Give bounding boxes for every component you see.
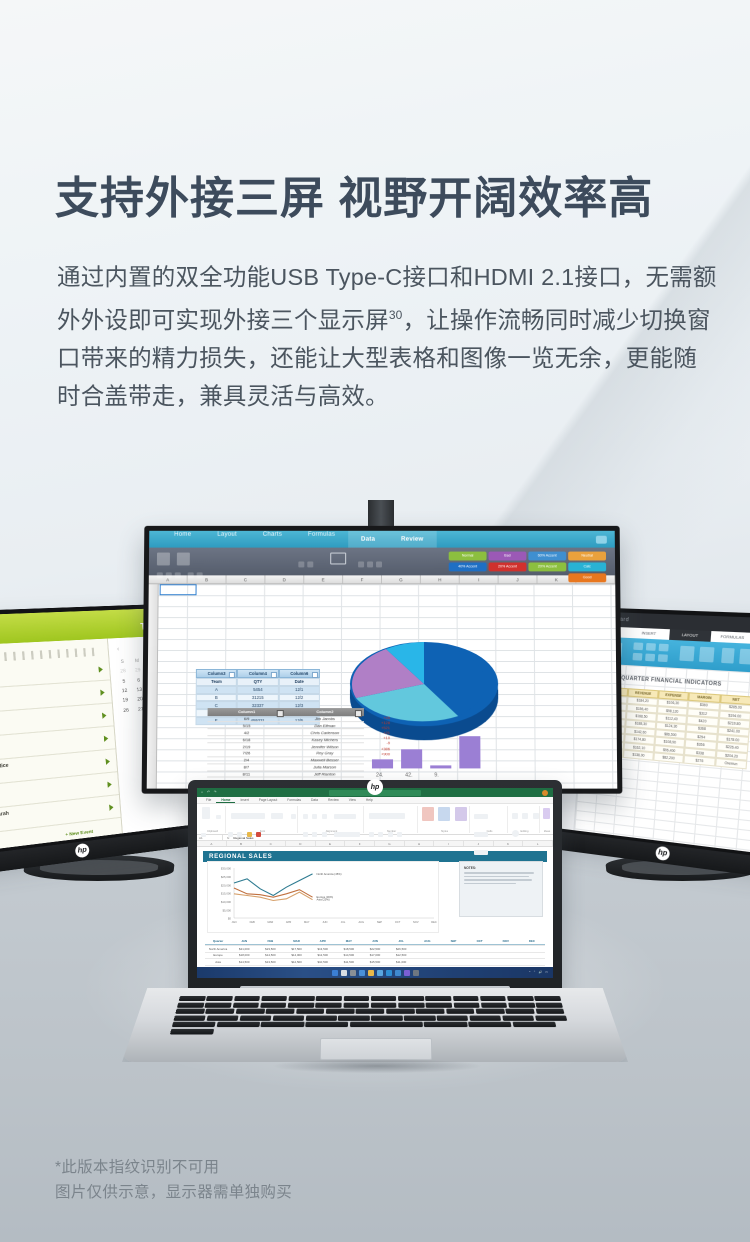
key[interactable] bbox=[272, 1015, 304, 1020]
key[interactable] bbox=[260, 1002, 287, 1007]
widgets-icon[interactable] bbox=[359, 970, 365, 976]
notes-heading: NOTES: bbox=[464, 866, 538, 870]
cell-0-5: $18,500 bbox=[336, 946, 362, 952]
spreadsheet-tab-5[interactable]: Review bbox=[388, 531, 436, 548]
key[interactable] bbox=[508, 1002, 535, 1007]
key[interactable] bbox=[398, 996, 424, 1001]
cell-0-11 bbox=[493, 946, 519, 952]
paste-icon bbox=[202, 807, 210, 819]
cell-name-3: Kasey Michers bbox=[286, 736, 364, 742]
excel-col-H[interactable]: H bbox=[405, 841, 435, 846]
group-label-editing: Editing bbox=[510, 830, 539, 833]
data-col-8: AUG bbox=[414, 938, 440, 945]
avatar[interactable] bbox=[542, 790, 548, 796]
key[interactable] bbox=[371, 996, 397, 1001]
cell-0-1: 5454 bbox=[237, 686, 278, 694]
cell-2-11 bbox=[493, 959, 519, 965]
cell-0-4: $13,500 bbox=[310, 946, 336, 952]
key[interactable] bbox=[170, 1029, 214, 1034]
table-a-subcol-2: Date bbox=[279, 678, 320, 686]
align-bottom-icon bbox=[322, 814, 327, 819]
column-header-D[interactable]: D bbox=[265, 575, 304, 583]
key[interactable] bbox=[216, 1022, 260, 1027]
taskview-icon[interactable] bbox=[350, 970, 356, 976]
cell-date-7: 8/7 bbox=[207, 764, 285, 770]
spreadsheet-tab-3[interactable]: Formulas bbox=[295, 531, 348, 548]
key[interactable] bbox=[535, 1015, 567, 1020]
mail-icon[interactable] bbox=[395, 970, 401, 976]
bold-icon[interactable] bbox=[633, 642, 643, 650]
bar-label-1: 42. bbox=[405, 772, 413, 778]
x-tick-FEB: FEB bbox=[250, 920, 255, 924]
data-col-1: JAN bbox=[231, 938, 257, 945]
ribbon-group-number[interactable] bbox=[358, 555, 385, 573]
wrap-icon bbox=[307, 561, 313, 567]
key[interactable] bbox=[481, 1002, 508, 1007]
cell-1-1: 31215 bbox=[237, 694, 278, 702]
style-swatch-1[interactable]: Bad bbox=[489, 552, 527, 561]
style-swatch-8[interactable]: Good bbox=[568, 573, 606, 582]
key[interactable] bbox=[513, 1022, 557, 1027]
x-tick-APR: APR bbox=[286, 920, 291, 924]
align-left-icon[interactable] bbox=[632, 653, 642, 661]
cell-0-3: $17,500 bbox=[283, 946, 309, 952]
settings-icon[interactable] bbox=[413, 970, 419, 976]
cell-1-3: $14,000 bbox=[283, 953, 309, 959]
bar-1 bbox=[401, 749, 422, 768]
cell-name-8: Jeff Rianton bbox=[286, 771, 364, 777]
excel-notes-panel: NOTES: bbox=[459, 861, 543, 917]
y-tick-3: $15,000 bbox=[221, 892, 232, 896]
cell-styles-icon bbox=[455, 807, 467, 821]
column-header-F[interactable]: F bbox=[343, 575, 382, 583]
agenda-title: Team Catchup bbox=[0, 685, 96, 702]
teams-icon[interactable] bbox=[404, 970, 410, 976]
cell-1-7: $12,500 bbox=[388, 953, 414, 959]
cell-2-12 bbox=[519, 959, 545, 965]
key[interactable] bbox=[326, 1009, 355, 1014]
cell-2-8 bbox=[414, 959, 440, 965]
center-monitor-screen: HomeLayoutChartsFormulasDataReview bbox=[147, 531, 618, 789]
x-tick-MAY: MAY bbox=[304, 920, 310, 924]
cell-0-0: A bbox=[196, 686, 237, 694]
key[interactable] bbox=[205, 1009, 234, 1014]
table-a-header[interactable]: Column3Column4Column6 bbox=[196, 669, 320, 678]
cell-0-8 bbox=[414, 946, 440, 952]
cell-1-5: $14,500 bbox=[336, 953, 362, 959]
y-tick-2: $10,000 bbox=[221, 900, 232, 904]
key[interactable] bbox=[234, 996, 261, 1001]
footnotes: *此版本指纹识别不可用 图片仅供示意，显示器需单独购买 bbox=[55, 1155, 292, 1205]
data-col-10: OCT bbox=[467, 938, 493, 945]
quick-access-icons[interactable]: ⌂ ↶ ↷ bbox=[201, 790, 218, 794]
y-tick-0: $0 bbox=[228, 917, 232, 921]
cell-name-7: Julia Marson bbox=[286, 764, 364, 770]
excel-tab-formulas[interactable]: Formulas bbox=[282, 798, 306, 802]
cell-name-2: Chris Carlenson bbox=[286, 730, 364, 736]
column-header-E[interactable]: E bbox=[304, 575, 343, 583]
spreadsheet-grid[interactable]: Column3Column4Column6 TeamQTYDateA545412… bbox=[147, 584, 618, 788]
ribbon-group-font[interactable] bbox=[157, 565, 206, 583]
spreadsheet-tabs[interactable]: HomeLayoutChartsFormulasDataReview bbox=[161, 531, 436, 548]
table-b-header[interactable]: Column1Column2 bbox=[208, 708, 364, 716]
cell-0-10 bbox=[467, 946, 493, 952]
hp-logo-icon bbox=[655, 846, 670, 861]
key[interactable] bbox=[468, 1022, 512, 1027]
align-center-icon bbox=[197, 572, 203, 578]
column-header-C[interactable]: C bbox=[227, 575, 266, 583]
table-a-subheader: TeamQTYDate bbox=[196, 678, 320, 686]
ribbon-group-alignment[interactable]: Alignment bbox=[300, 806, 364, 833]
style-swatch-0[interactable]: Normal bbox=[449, 552, 487, 561]
hp-logo-icon bbox=[75, 843, 90, 858]
active-cell-selection[interactable] bbox=[160, 584, 197, 595]
spreadsheet-row-headers bbox=[147, 584, 159, 788]
table-row: A545412/1 bbox=[196, 686, 320, 694]
laptop-shadow bbox=[232, 1056, 522, 1076]
page-headline: 支持外接三屏 视野开阔效率高 bbox=[55, 162, 653, 226]
chevron-right-icon bbox=[107, 781, 112, 788]
cell-2-0: Asia bbox=[205, 959, 231, 965]
key[interactable] bbox=[469, 1015, 501, 1020]
series-label-0: North America (45%) bbox=[317, 872, 342, 876]
key[interactable] bbox=[343, 1002, 369, 1007]
style-swatch-7[interactable]: Calc bbox=[568, 562, 606, 571]
ribbon-group-number[interactable]: Number bbox=[366, 806, 418, 833]
bar-3 bbox=[459, 736, 480, 768]
data-col-4: APR bbox=[310, 938, 336, 945]
key[interactable] bbox=[453, 996, 479, 1001]
key[interactable] bbox=[426, 1002, 452, 1007]
laptop-screen: ⌂ ↶ ↷ FileHomeInsertPage LayoutFormulasD… bbox=[197, 788, 553, 978]
body-copy-superscript: 30 bbox=[389, 308, 403, 322]
themes-icon bbox=[157, 553, 170, 566]
sort-icon[interactable] bbox=[739, 649, 750, 665]
key[interactable] bbox=[446, 1009, 475, 1014]
laptop-keyboard[interactable] bbox=[171, 996, 578, 1029]
key[interactable] bbox=[424, 1022, 467, 1027]
excel-col-I[interactable]: I bbox=[434, 841, 464, 846]
cell-2-1: $14,500 bbox=[231, 959, 257, 965]
table-row: Europe$18,000$14,500$14,000$12,500$14,50… bbox=[205, 953, 545, 960]
cell-1-9 bbox=[440, 953, 466, 959]
cell-1-2: 12/2 bbox=[278, 694, 319, 702]
embedded-table-b: Column1Column2 6/9Jim Jacobs5/15Dan Elfm… bbox=[207, 708, 364, 789]
dow-0: S bbox=[115, 658, 130, 664]
format-box[interactable] bbox=[330, 553, 346, 565]
key[interactable] bbox=[404, 1015, 436, 1020]
italic-icon[interactable] bbox=[646, 643, 656, 651]
table-icon[interactable] bbox=[679, 646, 694, 662]
start-icon[interactable] bbox=[332, 970, 338, 976]
key[interactable] bbox=[177, 1002, 204, 1007]
excel-tab-data[interactable]: Data bbox=[306, 798, 323, 802]
data-col-7: JUL bbox=[388, 938, 414, 945]
page-body-copy: 通过内置的双全功能USB Type-C接口和HDMI 2.1接口，无需额外外设即… bbox=[57, 258, 717, 415]
table-b-body: 6/9Jim Jacobs5/15Dan Elfman4/2Chris Carl… bbox=[207, 716, 364, 789]
data-col-6: JUN bbox=[362, 938, 388, 945]
table-a-col-2[interactable]: Column6 bbox=[279, 669, 320, 678]
ribbon-group-editing[interactable]: Editing bbox=[510, 806, 540, 833]
cell-0-12 bbox=[519, 946, 545, 952]
key[interactable] bbox=[316, 996, 342, 1001]
excel-tab-view[interactable]: View bbox=[344, 798, 361, 802]
key[interactable] bbox=[437, 1015, 469, 1020]
key[interactable] bbox=[338, 1015, 369, 1020]
key[interactable] bbox=[398, 1002, 424, 1007]
table-b-col-0[interactable]: Column1 bbox=[208, 708, 286, 716]
cell-2-3: $12,500 bbox=[283, 959, 309, 965]
cell-1-12 bbox=[519, 953, 545, 959]
calendar-agenda-panel: Sales PresentationNotes for final meetin… bbox=[0, 639, 123, 859]
chart-icon[interactable] bbox=[699, 647, 715, 663]
cell-7-4: Overrun bbox=[715, 758, 748, 769]
cell-7-3: $276 bbox=[684, 755, 716, 766]
footnote-1: *此版本指纹识别不可用 bbox=[55, 1155, 292, 1180]
key[interactable] bbox=[502, 1015, 534, 1020]
key[interactable] bbox=[343, 996, 369, 1001]
key[interactable] bbox=[266, 1009, 295, 1014]
excel-ribbon[interactable]: Clipboard Font bbox=[197, 804, 553, 835]
cell-0-9 bbox=[440, 946, 466, 952]
excel-tab-review[interactable]: Review bbox=[323, 798, 344, 802]
key[interactable] bbox=[356, 1009, 384, 1014]
format-cells-button[interactable] bbox=[474, 850, 488, 855]
align-middle-icon bbox=[312, 814, 317, 819]
key[interactable] bbox=[535, 1009, 565, 1014]
key[interactable] bbox=[179, 996, 206, 1001]
cell-1-2: $14,500 bbox=[257, 953, 283, 959]
number-format-select[interactable] bbox=[369, 813, 405, 819]
excel-tab-home[interactable]: Home bbox=[216, 798, 235, 803]
spreadsheet-tabbar[interactable]: HomeLayoutChartsFormulasDataReview bbox=[149, 531, 615, 548]
align-center-icon[interactable] bbox=[645, 654, 655, 662]
x-tick-JUL: JUL bbox=[341, 920, 346, 924]
key[interactable] bbox=[206, 996, 233, 1001]
spreadsheet-tab-1[interactable]: Layout bbox=[204, 531, 250, 548]
table-a-subcol-1: QTY bbox=[237, 678, 278, 686]
group-label-font: Font bbox=[228, 830, 297, 833]
cell-7-2: $82,200 bbox=[653, 753, 684, 764]
key[interactable] bbox=[315, 1002, 341, 1007]
data-col-11: NOV bbox=[493, 938, 519, 945]
footnote-2: 图片仅供示意，显示器需单独购买 bbox=[55, 1180, 292, 1205]
key[interactable] bbox=[371, 1002, 397, 1007]
table-a-col-1[interactable]: Column4 bbox=[237, 669, 278, 678]
key[interactable] bbox=[174, 1015, 206, 1020]
cell-0-2: 12/1 bbox=[279, 686, 320, 694]
cell-2-9 bbox=[440, 959, 466, 965]
table-b-col-1[interactable]: Column2 bbox=[286, 708, 364, 716]
style-swatches[interactable]: NormalBad60% AccentNeutral40% Accent20% … bbox=[429, 552, 606, 583]
data-col-5: MAY bbox=[336, 938, 362, 945]
data-col-3: MAR bbox=[283, 938, 309, 945]
key[interactable] bbox=[205, 1002, 232, 1007]
colors-icon bbox=[177, 553, 190, 566]
spreadsheet-ribbon[interactable]: NormalBad60% AccentNeutral40% Accent20% … bbox=[149, 548, 615, 576]
key[interactable] bbox=[350, 1022, 423, 1027]
ribbon-group-cells[interactable]: Cells bbox=[472, 806, 508, 833]
store-icon[interactable] bbox=[377, 970, 383, 976]
ribbon-group-clipboard[interactable]: Clipboard bbox=[200, 806, 226, 833]
align-right-icon[interactable] bbox=[658, 654, 668, 662]
spreadsheet-tab-4[interactable]: Data bbox=[348, 531, 388, 548]
key[interactable] bbox=[296, 1009, 325, 1014]
group-label-ideas: Ideas bbox=[541, 830, 553, 833]
conditional-format-icon bbox=[422, 807, 434, 821]
key[interactable] bbox=[305, 1015, 337, 1020]
key[interactable] bbox=[386, 1009, 415, 1014]
laptop: ⌂ ↶ ↷ FileHomeInsertPage LayoutFormulasD… bbox=[122, 780, 628, 1110]
data-col-2: FEB bbox=[257, 938, 283, 945]
device-scene: THU16 – □ × Sales PresentationNotes for … bbox=[0, 500, 750, 1140]
align-left-icon bbox=[188, 572, 194, 578]
key[interactable] bbox=[425, 996, 451, 1001]
x-tick-DEC: DEC bbox=[431, 920, 437, 924]
table-row: 2/19Jennifer Wilson bbox=[207, 743, 364, 750]
key[interactable] bbox=[506, 1009, 535, 1014]
spreadsheet-tab-0[interactable]: Home bbox=[161, 531, 204, 548]
style-swatch-5[interactable]: 20% Accent bbox=[489, 562, 527, 571]
excel-line-chart: $0$5,000$10,000$15,000$20,000$25,000$30,… bbox=[207, 861, 439, 933]
table-row: Asia$14,500$13,500$12,500$10,500$11,500$… bbox=[205, 959, 545, 966]
table-row: 4/2Chris Carlenson bbox=[207, 730, 364, 737]
cell-1-6: $17,000 bbox=[362, 953, 388, 959]
cell-0-1: $21,000 bbox=[231, 946, 257, 952]
key[interactable] bbox=[534, 996, 561, 1001]
key[interactable] bbox=[235, 1009, 264, 1014]
cell-7-1: $138,00 bbox=[623, 750, 653, 760]
style-swatch-6[interactable]: 20% Accent bbox=[528, 562, 566, 571]
font-size-select[interactable] bbox=[271, 813, 283, 819]
cell-2-10 bbox=[467, 959, 493, 965]
chevron-right-icon bbox=[98, 666, 103, 673]
key[interactable] bbox=[206, 1015, 238, 1020]
prev-month-icon[interactable]: ‹ bbox=[117, 646, 120, 652]
group-label-cells: Cells bbox=[472, 830, 507, 833]
ribbon-group-cells[interactable] bbox=[298, 555, 316, 573]
bar-2 bbox=[430, 765, 451, 768]
share-icon[interactable] bbox=[596, 535, 607, 543]
agenda-title: Local Rally bbox=[0, 731, 100, 752]
ribbon-group-styles[interactable]: Styles bbox=[420, 806, 470, 833]
bar-0 bbox=[372, 759, 393, 768]
column-header-G[interactable]: G bbox=[382, 575, 421, 583]
key[interactable] bbox=[239, 1015, 271, 1020]
cell-2-6: $15,500 bbox=[362, 959, 388, 965]
cell-name-0: Jim Jacobs bbox=[286, 716, 364, 722]
underline-icon[interactable] bbox=[659, 644, 669, 652]
key[interactable] bbox=[536, 1002, 563, 1007]
calendar-day-26[interactable]: 26 bbox=[118, 706, 133, 717]
search-icon[interactable] bbox=[341, 970, 347, 976]
copy-icon bbox=[201, 833, 206, 837]
excel-tab-help[interactable]: Help bbox=[361, 798, 378, 802]
cell-1-10 bbox=[467, 953, 493, 959]
cell-2-4: $10,500 bbox=[310, 959, 336, 965]
x-tick-OCT: OCT bbox=[395, 920, 401, 924]
x-tick-NOV: NOV bbox=[413, 920, 419, 924]
excel-ribbon-tabs[interactable]: FileHomeInsertPage LayoutFormulasDataRev… bbox=[197, 797, 553, 804]
cell-name-1: Dan Elfman bbox=[286, 723, 364, 729]
style-swatch-2[interactable]: 60% Accent bbox=[528, 552, 566, 561]
cell-date-6: 2/4 bbox=[207, 757, 285, 763]
merge-icon bbox=[298, 561, 304, 567]
key[interactable] bbox=[416, 1009, 445, 1014]
style-swatch-4[interactable]: 40% Accent bbox=[449, 562, 487, 571]
align-top-icon bbox=[303, 814, 308, 819]
x-tick-JAN: JAN bbox=[232, 920, 237, 924]
y-tick-1: $5,000 bbox=[222, 908, 231, 912]
key[interactable] bbox=[476, 1009, 505, 1014]
edge-icon[interactable] bbox=[386, 970, 392, 976]
key[interactable] bbox=[232, 1002, 259, 1007]
cell-date-2: 4/2 bbox=[207, 730, 285, 736]
spreadsheet-tab-2[interactable]: Charts bbox=[250, 531, 295, 548]
cell-1-4: $12,500 bbox=[310, 953, 336, 959]
percent-icon bbox=[367, 561, 373, 567]
cell-date-1: 5/15 bbox=[207, 723, 285, 729]
data-col-0: Quarter bbox=[205, 938, 231, 945]
key[interactable] bbox=[288, 1002, 314, 1007]
chevron-right-icon bbox=[104, 735, 109, 742]
insert-cells-button[interactable] bbox=[474, 814, 488, 819]
agenda-list: Sales PresentationNotes for final meetin… bbox=[0, 657, 121, 841]
line-chart-svg: $0$5,000$10,000$15,000$20,000$25,000$30,… bbox=[208, 862, 440, 934]
excel-col-L[interactable]: L bbox=[523, 841, 553, 846]
cell-name-5: Roy Gray bbox=[286, 750, 364, 756]
bar-label-0: 24. bbox=[376, 772, 384, 778]
cell-1-8 bbox=[414, 953, 440, 959]
key[interactable] bbox=[453, 1002, 480, 1007]
wrap-text-button[interactable] bbox=[334, 814, 356, 819]
cell-0-2: $23,500 bbox=[257, 946, 283, 952]
excel-tab-file[interactable]: File bbox=[201, 798, 216, 802]
table-a-subcol-0: Team bbox=[196, 678, 237, 686]
key[interactable] bbox=[261, 996, 287, 1001]
excel-tab-insert[interactable]: Insert bbox=[235, 798, 253, 802]
key[interactable] bbox=[175, 1009, 205, 1014]
hp-logo-icon bbox=[367, 779, 383, 795]
style-swatch-3[interactable]: Neutral bbox=[568, 552, 606, 561]
group-label-clipboard: Clipboard bbox=[200, 830, 225, 833]
chevron-right-icon bbox=[100, 689, 105, 696]
key[interactable] bbox=[261, 1022, 304, 1027]
x-tick-AUG: AUG bbox=[358, 920, 364, 924]
excel-tab-page-layout[interactable]: Page Layout bbox=[254, 798, 283, 802]
key[interactable] bbox=[172, 1022, 216, 1027]
cell-0-7: $26,500 bbox=[388, 946, 414, 952]
key[interactable] bbox=[507, 996, 534, 1001]
x-tick-MAR: MAR bbox=[267, 920, 273, 924]
ribbon-group-font[interactable]: Font bbox=[228, 806, 298, 833]
comma-icon bbox=[376, 561, 382, 567]
key[interactable] bbox=[288, 996, 314, 1001]
new-event-button[interactable]: + New Event bbox=[65, 829, 93, 838]
windows-taskbar[interactable]: ^ ⌃ 🔊 ▭ bbox=[197, 967, 553, 978]
font-name-select[interactable] bbox=[231, 813, 265, 819]
system-tray[interactable]: ^ ⌃ 🔊 ▭ bbox=[529, 970, 549, 974]
ribbon-group-ideas[interactable]: Ideas bbox=[541, 806, 553, 833]
table-a-col-0[interactable]: Column3 bbox=[196, 669, 237, 678]
fill-icon bbox=[522, 813, 528, 819]
filter-icon[interactable] bbox=[721, 648, 735, 664]
key[interactable] bbox=[371, 1015, 402, 1020]
key[interactable] bbox=[480, 996, 507, 1001]
explorer-icon[interactable] bbox=[368, 970, 374, 976]
key[interactable] bbox=[305, 1022, 348, 1027]
cell-date-4: 2/19 bbox=[207, 743, 285, 749]
